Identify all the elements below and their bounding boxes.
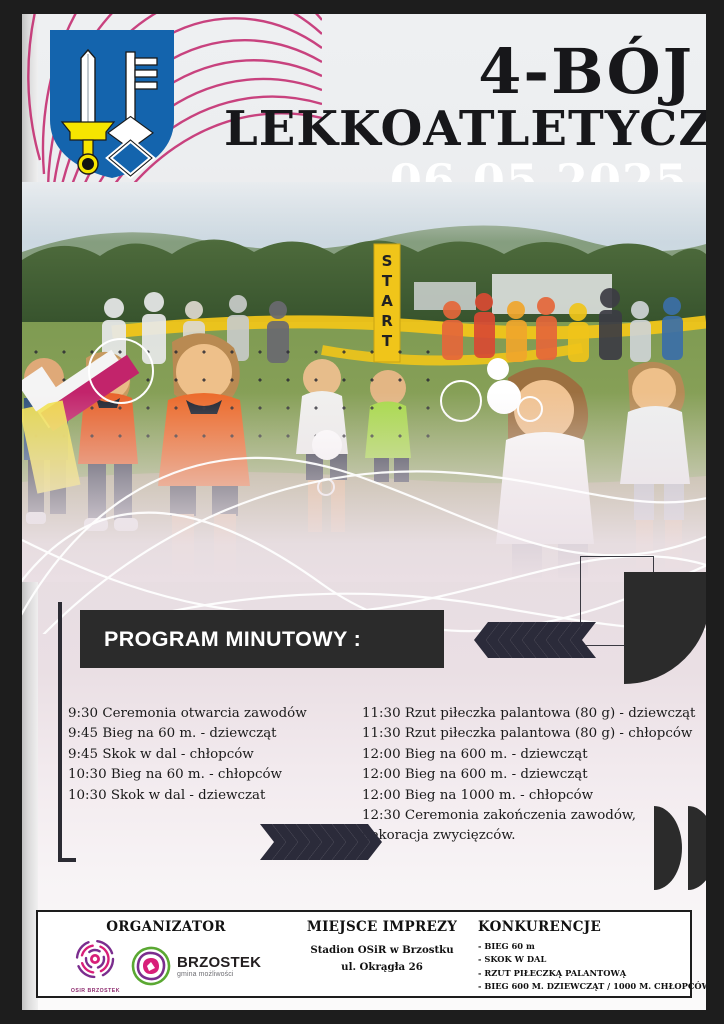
brzostek-logo-text: BRZOSTEK gmina możliwości <box>177 955 261 978</box>
coat-of-arms-icon <box>48 28 176 180</box>
quarter-circle-decoration <box>624 572 706 684</box>
brzostek-logo-tagline: gmina możliwości <box>177 971 261 978</box>
chevron-left-decoration <box>474 620 598 660</box>
brzostek-blob-icon <box>130 945 172 987</box>
chevron-right-decoration <box>258 822 382 862</box>
program-item: 12:30 Ceremonia zakończenia zawodów, dek… <box>362 806 698 847</box>
venue-line-2: ul. Okrągła 26 <box>300 959 464 976</box>
footer-venue-column: MIEJSCE IMPREZY Stadion OSiR w Brzostku … <box>294 912 470 996</box>
svg-text:T: T <box>382 272 393 290</box>
program-item: 9:30 Ceremonia otwarcia zawodów <box>68 704 340 724</box>
program-item: 12:00 Bieg na 600 m. - dziewcząt <box>362 765 698 785</box>
program-item: 12:00 Bieg na 600 m. - dziewcząt <box>362 745 698 765</box>
events-list: - BIEG 60 m - SKOK W DAL - RZUT PIŁECZKĄ… <box>476 940 682 993</box>
event-list-item: - SKOK W DAL <box>478 953 682 966</box>
svg-text:S: S <box>382 252 393 270</box>
program-item: 10:30 Skok w dal - dziewczat <box>68 786 340 806</box>
program-header-bar: PROGRAM MINUTOWY : <box>80 610 444 668</box>
program-item: 9:45 Skok w dal - chłopców <box>68 745 340 765</box>
footer-events-column: KONKURENCJE - BIEG 60 m - SKOK W DAL - R… <box>470 912 688 996</box>
photo-top-fade <box>22 182 706 242</box>
program-heading: PROGRAM MINUTOWY : <box>104 627 361 652</box>
footer-panel: ORGANIZATOR OSIR BRZOSTEK <box>36 910 692 998</box>
program-column-right: 11:30 Rzut piłeczka palantowa (80 g) - d… <box>362 704 698 847</box>
svg-text:R: R <box>381 312 393 330</box>
organizer-heading: ORGANIZATOR <box>44 919 288 935</box>
program-item: 10:30 Bieg na 60 m. - chłopców <box>68 765 340 785</box>
title-main: 4-BÓJ <box>224 42 694 103</box>
osir-logo: OSIR BRZOSTEK <box>71 938 120 994</box>
event-list-item: - BIEG 600 M. DZIEWCZĄT / 1000 M. CHŁOPC… <box>478 980 682 993</box>
svg-text:A: A <box>381 292 393 310</box>
osir-brzostek-icon <box>72 938 118 982</box>
organizer-logos: OSIR BRZOSTEK BRZOSTEK gmina możliwości <box>44 938 288 994</box>
program-item: 9:45 Bieg na 60 m. - dziewcząt <box>68 724 340 744</box>
program-item: 11:30 Rzut piłeczka palantowa (80 g) - c… <box>362 724 698 744</box>
footer-organizer-column: ORGANIZATOR OSIR BRZOSTEK <box>38 912 294 996</box>
program-item: 11:30 Rzut piłeczka palantowa (80 g) - d… <box>362 704 698 724</box>
venue-heading: MIEJSCE IMPREZY <box>300 919 464 935</box>
brzostek-logo: BRZOSTEK gmina możliwości <box>130 945 261 987</box>
half-circles-decoration <box>654 806 706 890</box>
title-subtitle: LEKKOATLETYCZNY <box>224 105 694 153</box>
poster-title-block: 4-BÓJ LEKKOATLETYCZNY 06.05.2025 <box>224 42 694 205</box>
event-list-item: - RZUT PIŁECZKĄ PALANTOWĄ <box>478 967 682 980</box>
program-item: 12:00 Bieg na 1000 m. - chłopców <box>362 786 698 806</box>
poster-canvas: 4-BÓJ LEKKOATLETYCZNY 06.05.2025 <box>22 14 706 1010</box>
osir-logo-caption: OSIR BRZOSTEK <box>71 988 120 994</box>
program-columns: 9:30 Ceremonia otwarcia zawodów 9:45 Bie… <box>68 704 698 847</box>
poster-root: 4-BÓJ LEKKOATLETYCZNY 06.05.2025 <box>0 0 724 1024</box>
events-heading: KONKURENCJE <box>476 919 682 935</box>
event-list-item: - BIEG 60 m <box>478 940 682 953</box>
venue-line-1: Stadion OSiR w Brzostku <box>300 942 464 959</box>
brzostek-logo-name: BRZOSTEK <box>177 955 261 970</box>
